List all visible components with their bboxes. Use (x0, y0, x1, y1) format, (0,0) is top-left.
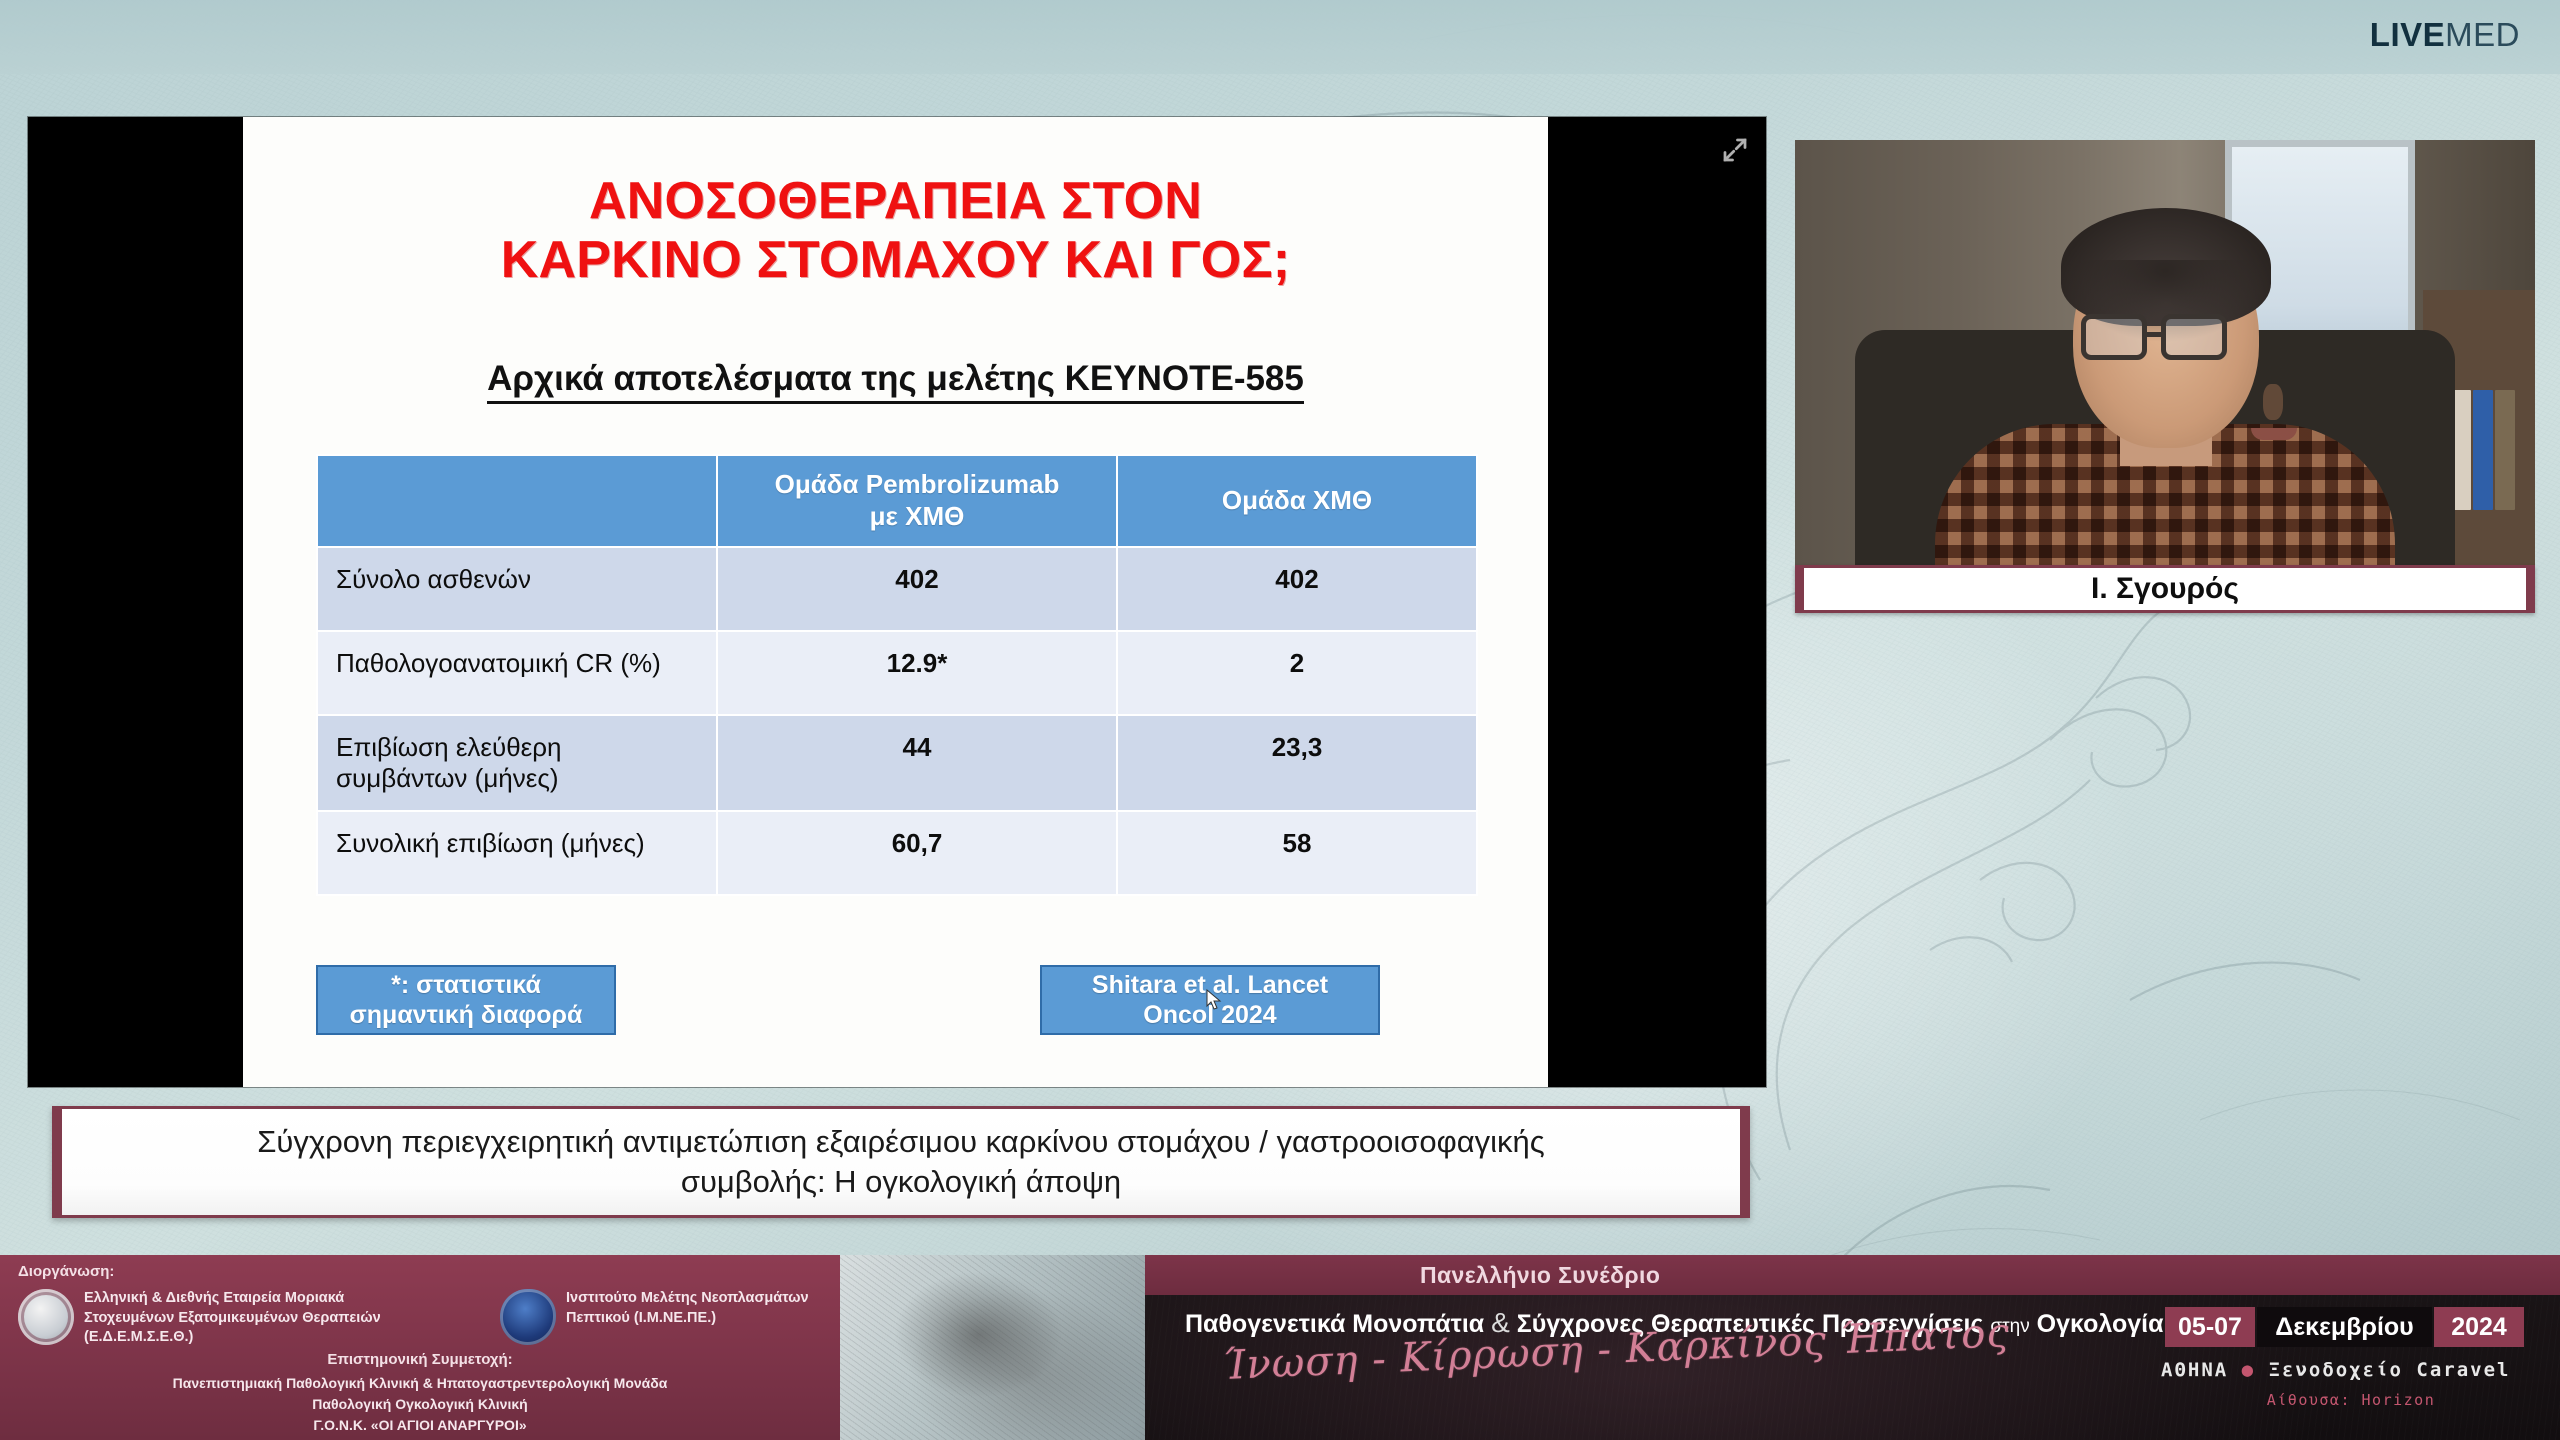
table-row: Παθολογοανατομική CR (%) 12.9* 2 (317, 631, 1477, 715)
scientific-line-2: Παθολογική Ογκολογική Κλινική (0, 1394, 840, 1415)
row-value-pembro: 12.9* (717, 631, 1117, 715)
lecture-title-line2: συμβολής: Η ογκολογική άποψη (257, 1162, 1544, 1202)
footnote-box: *: στατιστικά σημαντική διαφορά (316, 965, 616, 1035)
row-value-chemo: 2 (1117, 631, 1477, 715)
row-value-pembro: 60,7 (717, 811, 1117, 895)
table-header-blank (317, 455, 717, 547)
date-days: 05-07 (2165, 1307, 2255, 1347)
organizer-2-logo (500, 1289, 556, 1345)
eyeglasses-bridge (2147, 332, 2163, 337)
row-value-chemo: 402 (1117, 547, 1477, 631)
scientific-participants: Πανεπιστημιακή Παθολογική Κλινική & Ηπατ… (0, 1373, 840, 1436)
venue-hall: Αίθουσα: Horizon (2161, 1391, 2541, 1409)
livemed-logo-live: LIVE (2370, 16, 2445, 53)
slide-subtitle-text: Αρχικά αποτελέσματα της μελέτης KEYNOTE-… (487, 359, 1304, 404)
row-value-chemo: 23,3 (1117, 715, 1477, 811)
keynote-results-table: Ομάδα Pembrolizumab με ΧΜΘ Ομάδα ΧΜΘ Σύν… (316, 454, 1478, 896)
conference-banner: Διοργάνωση: Ελληνική & Διεθνής Εταιρεία … (0, 1255, 2560, 1440)
organizer-2-name: Ινστιτούτο Μελέτης Νεοπλασμάτων Πεπτικού… (566, 1289, 830, 1328)
speaker-nameplate: Ι. Σγουρός (1795, 565, 2535, 613)
speaker-mouth (2251, 428, 2297, 440)
mouse-cursor (1206, 989, 1222, 1011)
speaker-nose (2263, 384, 2283, 420)
date-month: Δεκεμβρίου (2257, 1307, 2432, 1347)
scientific-heading: Επιστημονική Συμμετοχή: (0, 1351, 840, 1368)
binder (2473, 390, 2493, 510)
banner-kicker-strip: Πανελλήνιο Συνέδριο (1145, 1255, 2560, 1295)
venue-name: Ξενοδοχείο Caravel (2269, 1359, 2511, 1381)
row-label: Επιβίωση ελεύθερη συμβάντων (μήνες) (317, 715, 717, 811)
organizer-2: Ινστιτούτο Μελέτης Νεοπλασμάτων Πεπτικού… (500, 1289, 830, 1328)
organizer-1-name: Ελληνική & Διεθνής Εταιρεία Μοριακά Στοχ… (84, 1289, 418, 1348)
table-header-chemo-line1: Ομάδα ΧΜΘ (1118, 485, 1476, 517)
table-row: Σύνολο ασθενών 402 402 (317, 547, 1477, 631)
speaker-name: Ι. Σγουρός (2091, 572, 2239, 606)
eyeglasses-right-lens (2161, 314, 2227, 360)
slide-subtitle: Αρχικά αποτελέσματα της μελέτης KEYNOTE-… (303, 359, 1488, 399)
speaker-figure (1965, 196, 2365, 567)
banner-artwork (840, 1255, 1145, 1440)
banner-sketch (840, 1255, 1145, 1440)
slide-content: ΑΝΟΣΟΘΕΡΑΠΕΙΑ ΣΤΟΝ ΚΑΡΚΙΝΟ ΣΤΟΜΑΧΟΥ ΚΑΙ … (243, 117, 1548, 1087)
slide-title-line2: ΚΑΡΚΙΝΟ ΣΤΟΜΑΧΟΥ ΚΑΙ ΓΟΣ; (303, 231, 1488, 290)
scientific-line-3: Γ.Ο.Ν.Κ. «ΟΙ ΑΓΙΟΙ ΑΝΑΡΓΥΡΟΙ» (0, 1415, 840, 1436)
table-row: Συνολική επιβίωση (μήνες) 60,7 58 (317, 811, 1477, 895)
date-year: 2024 (2434, 1307, 2524, 1347)
row-label: Σύνολο ασθενών (317, 547, 717, 631)
slide-title: ΑΝΟΣΟΘΕΡΑΠΕΙΑ ΣΤΟΝ ΚΑΡΚΙΝΟ ΣΤΟΜΑΧΟΥ ΚΑΙ … (303, 172, 1488, 290)
row-label: Συνολική επιβίωση (μήνες) (317, 811, 717, 895)
app-window: LIVEMED ΑΝΟΣΟΘΕΡΑΠΕΙΑ ΣΤΟΝ ΚΑΡΚΙΝΟ ΣΤΟΜΑ… (0, 0, 2560, 1440)
organizer-1: Ελληνική & Διεθνής Εταιρεία Μοριακά Στοχ… (18, 1289, 418, 1348)
row-label: Παθολογοανατομική CR (%) (317, 631, 717, 715)
lecture-title-bar: Σύγχρονη περιεγχειρητική αντιμετώπιση εξ… (52, 1106, 1750, 1218)
table-header-pembro-line1: Ομάδα Pembrolizumab (718, 469, 1116, 501)
expand-icon[interactable] (1720, 135, 1750, 165)
conference-kicker: Πανελλήνιο Συνέδριο (1420, 1262, 1660, 1289)
table-row: Επιβίωση ελεύθερη συμβάντων (μήνες) 44 2… (317, 715, 1477, 811)
table-header-chemo: Ομάδα ΧΜΘ (1117, 455, 1477, 547)
table-header-pembro-line2: με ΧΜΘ (718, 501, 1116, 533)
speaker-video[interactable] (1795, 140, 2535, 567)
binder (2495, 390, 2515, 510)
top-bar: LIVEMED (0, 0, 2560, 74)
lecture-title-line1: Σύγχρονη περιεγχειρητική αντιμετώπιση εξ… (257, 1122, 1544, 1162)
slide-viewer[interactable]: ΑΝΟΣΟΘΕΡΑΠΕΙΑ ΣΤΟΝ ΚΑΡΚΙΝΟ ΣΤΟΜΑΧΟΥ ΚΑΙ … (28, 117, 1766, 1087)
slide-title-line1: ΑΝΟΣΟΘΕΡΑΠΕΙΑ ΣΤΟΝ (303, 172, 1488, 231)
organizer-1-logo (18, 1289, 74, 1345)
row-value-pembro: 44 (717, 715, 1117, 811)
bullet-icon: ● (2242, 1359, 2255, 1381)
venue-city: ΑΘΗΝΑ (2161, 1359, 2228, 1381)
livemed-logo-med: MED (2445, 16, 2520, 53)
speaker-hair (2061, 208, 2271, 326)
row-value-pembro: 402 (717, 547, 1117, 631)
eyeglasses-left-lens (2081, 314, 2147, 360)
livemed-logo: LIVEMED (2370, 16, 2520, 54)
scientific-line-1: Πανεπιστημιακή Παθολογική Κλινική & Ηπατ… (0, 1373, 840, 1394)
table-header-pembro: Ομάδα Pembrolizumab με ΧΜΘ (717, 455, 1117, 547)
banner-organizers: Διοργάνωση: Ελληνική & Διεθνής Εταιρεία … (0, 1255, 840, 1440)
venue-line: ΑΘΗΝΑ ● Ξενοδοχείο Caravel (2161, 1359, 2541, 1381)
lecture-title: Σύγχρονη περιεγχειρητική αντιμετώπιση εξ… (231, 1122, 1570, 1201)
table-header-row: Ομάδα Pembrolizumab με ΧΜΘ Ομάδα ΧΜΘ (317, 455, 1477, 547)
row-value-chemo: 58 (1117, 811, 1477, 895)
organizers-heading: Διοργάνωση: (18, 1263, 114, 1280)
